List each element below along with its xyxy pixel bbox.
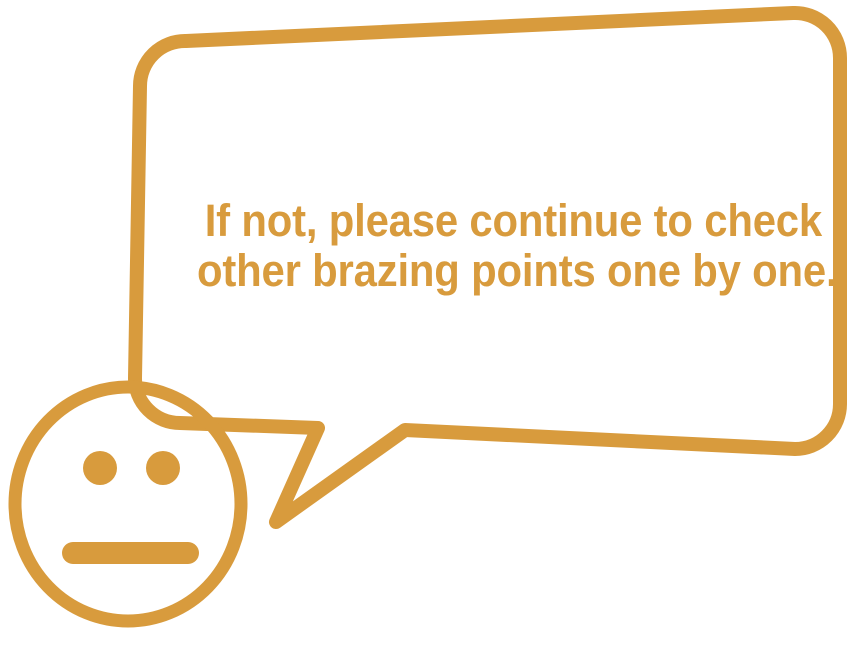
- callout-artwork: [0, 0, 868, 664]
- speech-bubble: [135, 13, 840, 522]
- mouth-icon: [62, 542, 199, 564]
- speech-bubble-outline: [135, 13, 840, 522]
- face-outline: [15, 387, 241, 621]
- right-eye-icon: [146, 451, 180, 485]
- callout-illustration: If not, please continue to check other b…: [0, 0, 868, 664]
- neutral-face: [15, 387, 241, 621]
- left-eye-icon: [83, 451, 117, 485]
